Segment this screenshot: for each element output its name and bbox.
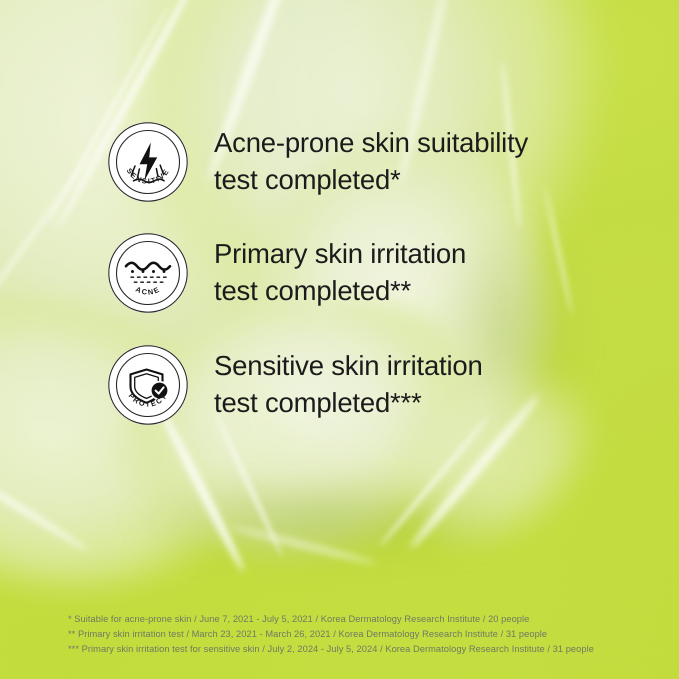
- claim-row: SENSITIVE Acne-prone skin suitability te…: [108, 122, 528, 202]
- claim-row: ACNE Primary skin irritation test comple…: [108, 233, 466, 313]
- lightning-bolt-icon: SENSITIVE: [108, 122, 188, 202]
- claim-row: PROTECT Sensitive skin irritation test c…: [108, 345, 483, 425]
- badge-protect: PROTECT: [108, 345, 188, 425]
- badge-acne: ACNE: [108, 233, 188, 313]
- skin-pores-icon: ACNE: [108, 233, 188, 313]
- badge-sensitive: SENSITIVE: [108, 122, 188, 202]
- product-claims-graphic: SENSITIVE Acne-prone skin suitability te…: [0, 0, 679, 679]
- shield-check-icon: PROTECT: [108, 345, 188, 425]
- footnote-line: *** Primary skin irritation test for sen…: [68, 642, 594, 657]
- claim-text: Primary skin irritation test completed**: [214, 236, 466, 309]
- footnotes: * Suitable for acne-prone skin / June 7,…: [68, 612, 594, 657]
- footnote-line: ** Primary skin irritation test / March …: [68, 627, 594, 642]
- claim-text: Sensitive skin irritation test completed…: [214, 348, 483, 421]
- footnote-line: * Suitable for acne-prone skin / June 7,…: [68, 612, 594, 627]
- claims-content: SENSITIVE Acne-prone skin suitability te…: [0, 0, 679, 679]
- claim-text: Acne-prone skin suitability test complet…: [214, 125, 528, 198]
